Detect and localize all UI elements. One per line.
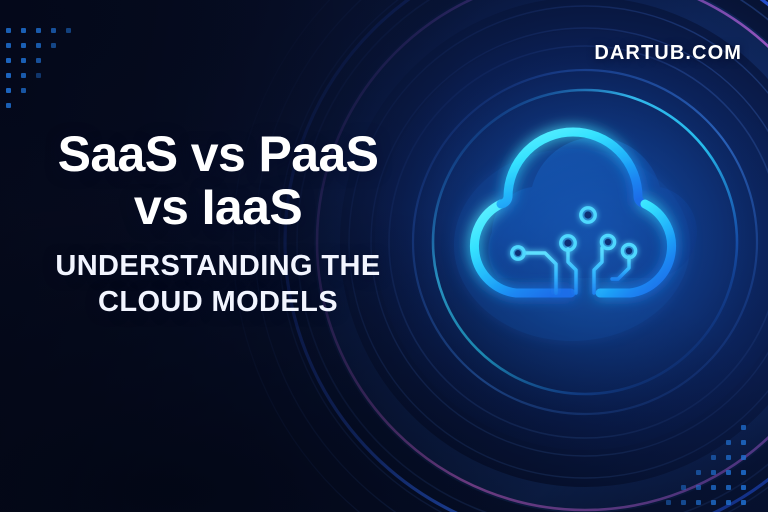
poster-canvas: DARTUB.COM SaaS vs PaaS vs IaaS UNDERSTA… [0,0,768,512]
page-title: SaaS vs PaaS vs IaaS [0,128,436,234]
page-subtitle: UNDERSTANDING THE CLOUD MODELS [0,248,436,321]
brand-watermark: DARTUB.COM [594,42,742,65]
title-group: SaaS vs PaaS vs IaaS UNDERSTANDING THE C… [0,128,436,321]
